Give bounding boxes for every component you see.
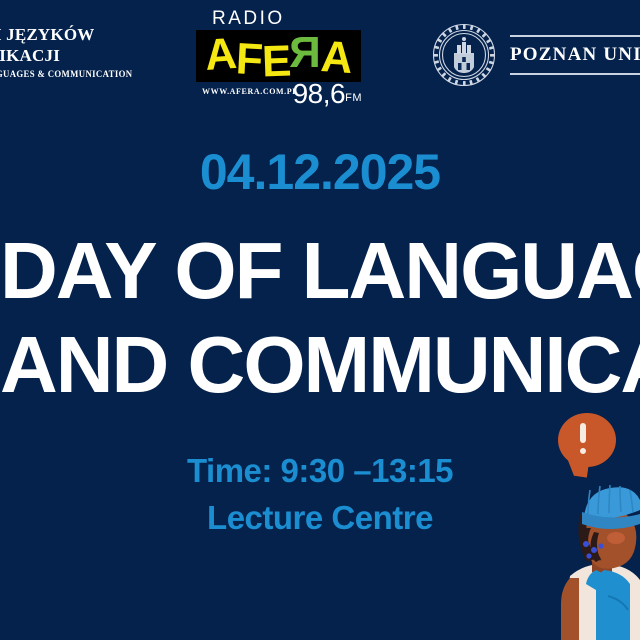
poznan-university-of-technology-logo: POZNAN UNIVERSITY OF TECHNOLOGY: [432, 20, 640, 90]
event-date: 04.12.2025: [0, 143, 640, 201]
event-title: DAY OF LANGUAGES AND COMMUNICATION: [0, 224, 640, 412]
event-poster: STUDIUM JĘZYKÓW I KOMUNIKACJI CENTRE OF …: [0, 0, 640, 640]
afera-letter-a1: A: [204, 32, 238, 78]
afera-brand-wordmark: AFERA: [196, 30, 361, 82]
sjk-logo-subtitle: CENTRE OF LANGUAGES & COMMUNICATION: [0, 70, 168, 80]
event-title-line2: AND COMMUNICATION: [0, 318, 640, 412]
radio-afera-logo: RADIO AFERA WWW.AFERA.COM.PL 98,6FM: [196, 8, 364, 112]
afera-website-text: WWW.AFERA.COM.PL: [202, 87, 298, 96]
university-name: POZNAN UNIVERSITY OF TECHNOLOGY: [510, 44, 640, 66]
studium-jezykow-i-komunikacji-logo: STUDIUM JĘZYKÓW I KOMUNIKACJI CENTRE OF …: [0, 24, 190, 80]
university-seal-icon: [432, 23, 496, 87]
event-title-line1: DAY OF LANGUAGES: [0, 224, 640, 318]
person-illustration: [530, 484, 640, 640]
afera-radio-word: RADIO: [212, 8, 285, 30]
logo-row: STUDIUM JĘZYKÓW I KOMUNIKACJI CENTRE OF …: [0, 0, 640, 118]
illustration: [530, 410, 640, 640]
afera-frequency-number: 98,6: [293, 78, 346, 109]
afera-frequency-unit: FM: [345, 92, 362, 104]
afera-letter-f: F: [235, 37, 263, 82]
exclamation-mark-icon: [580, 423, 587, 454]
sjk-logo-line2: I KOMUNIKACJI: [0, 45, 190, 66]
university-wordmark: POZNAN UNIVERSITY OF TECHNOLOGY: [510, 35, 640, 75]
speech-bubble-icon: [558, 413, 616, 467]
afera-letter-a2: A: [320, 35, 354, 81]
afera-frequency: 98,6FM: [293, 78, 362, 110]
afera-letter-r-reversed: R: [290, 31, 321, 75]
afera-letter-e: E: [261, 40, 291, 85]
sjk-logo-line1: STUDIUM JĘZYKÓW: [0, 24, 190, 45]
